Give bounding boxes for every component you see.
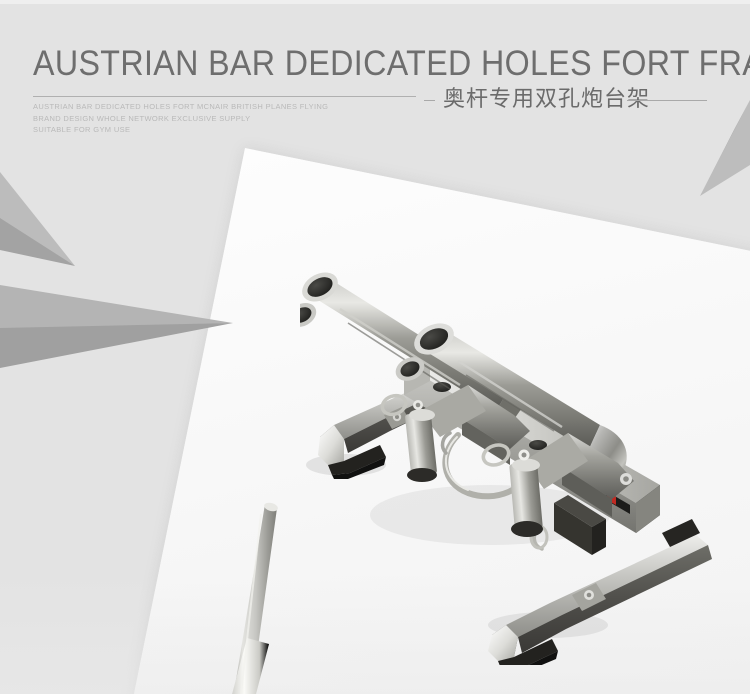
left-lower-arrow-light [0,285,233,330]
product-image [300,265,750,665]
tagline-line-3: SUITABLE FOR GYM USE [33,124,328,136]
left-upper-arrow-light [0,172,75,266]
olympic-bar-sleeve [225,498,285,694]
product-banner: AUSTRIAN BAR DEDICATED HOLES FORT FRAME … [0,0,750,694]
tagline-line-1: AUSTRIAN BAR DEDICATED HOLES FORT MCNAIR… [33,101,328,113]
header: AUSTRIAN BAR DEDICATED HOLES FORT FRAME … [0,0,750,148]
divider-left [33,96,416,97]
tagline-block: AUSTRIAN BAR DEDICATED HOLES FORT MCNAIR… [33,101,328,136]
left-lower-arrow-dark [0,323,233,368]
left-upper-arrow-dark [0,218,75,266]
subtitle-chinese: 奥杆专用双孔炮台架 [443,87,650,113]
page-title: AUSTRIAN BAR DEDICATED HOLES FORT FRAME [33,44,750,84]
divider-right [627,100,707,101]
tagline-line-2: BRAND DESIGN WHOLE NETWORK EXCLUSIVE SUP… [33,113,328,125]
bar-collar [231,638,269,694]
divider-dash [424,100,435,101]
